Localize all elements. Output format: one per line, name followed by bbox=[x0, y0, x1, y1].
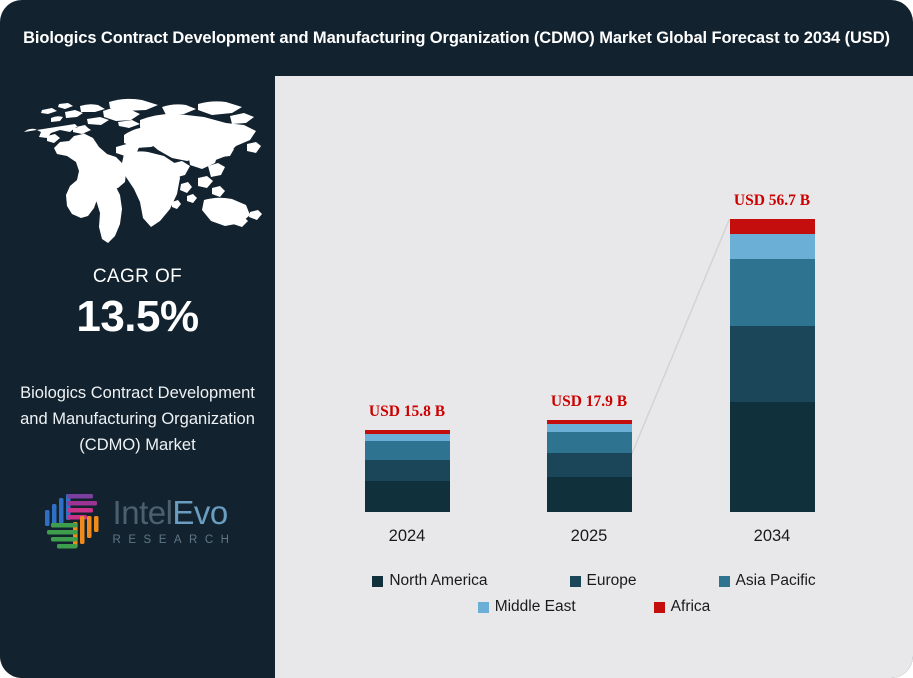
bar-total-label-2034: USD 56.7 B bbox=[734, 192, 810, 210]
sidebar: CAGR OF 13.5% Biologics Contract Develop… bbox=[0, 76, 275, 678]
logo-name-part2: Evo bbox=[172, 494, 227, 531]
bar-segment-africa-2034[interactable] bbox=[730, 219, 815, 234]
bar-segment-europe-2024[interactable] bbox=[365, 460, 450, 481]
bar-segment-north-america-2025[interactable] bbox=[547, 477, 632, 512]
bar-segment-middle-east-2034[interactable] bbox=[730, 234, 815, 259]
bar-group-2024[interactable]: USD 15.8 B bbox=[365, 430, 450, 512]
chart-legend: North AmericaEuropeAsia Pacific Middle E… bbox=[275, 572, 913, 616]
bar-segment-europe-2025[interactable] bbox=[547, 453, 632, 477]
legend-swatch-africa bbox=[654, 602, 665, 613]
legend-item-africa[interactable]: Africa bbox=[654, 598, 711, 616]
legend-item-asia-pacific[interactable]: Asia Pacific bbox=[719, 572, 816, 590]
logo-tagline: RESEARCH bbox=[113, 534, 237, 546]
chart-panel: USD 15.8 B2024USD 17.9 B2025USD 56.7 B20… bbox=[275, 76, 913, 678]
bar-total-label-2024: USD 15.8 B bbox=[369, 403, 445, 421]
x-axis-label-2034: 2034 bbox=[730, 527, 815, 546]
market-name: Biologics Contract Development and Manuf… bbox=[13, 380, 263, 458]
title-bar: Biologics Contract Development and Manuf… bbox=[0, 0, 913, 76]
legend-swatch-middle-east bbox=[478, 602, 489, 613]
legend-label-europe: Europe bbox=[587, 572, 637, 590]
bar-segment-middle-east-2024[interactable] bbox=[365, 434, 450, 441]
legend-item-europe[interactable]: Europe bbox=[570, 572, 637, 590]
x-axis-label-2024: 2024 bbox=[365, 527, 450, 546]
bar-group-2034[interactable]: USD 56.7 B bbox=[730, 219, 815, 512]
x-axis-label-2025: 2025 bbox=[547, 527, 632, 546]
legend-item-north-america[interactable]: North America bbox=[372, 572, 487, 590]
legend-row-primary: North AmericaEuropeAsia Pacific bbox=[275, 572, 913, 590]
bar-segment-asia-pacific-2025[interactable] bbox=[547, 432, 632, 453]
infographic-root: Biologics Contract Development and Manuf… bbox=[0, 0, 913, 678]
cagr-label: CAGR OF bbox=[93, 266, 182, 288]
legend-item-middle-east[interactable]: Middle East bbox=[478, 598, 576, 616]
logo-name: IntelEvo bbox=[113, 496, 237, 529]
legend-swatch-north-america bbox=[372, 576, 383, 587]
page-title: Biologics Contract Development and Manuf… bbox=[23, 27, 890, 49]
cagr-value: 13.5% bbox=[76, 292, 198, 342]
legend-label-middle-east: Middle East bbox=[495, 598, 576, 616]
legend-swatch-europe bbox=[570, 576, 581, 587]
bar-stack-2025 bbox=[547, 420, 632, 512]
legend-label-asia-pacific: Asia Pacific bbox=[736, 572, 816, 590]
bar-segment-asia-pacific-2024[interactable] bbox=[365, 441, 450, 460]
legend-row-secondary: Middle EastAfrica bbox=[275, 598, 913, 616]
legend-swatch-asia-pacific bbox=[719, 576, 730, 587]
bar-segment-europe-2034[interactable] bbox=[730, 326, 815, 402]
intelevo-pinwheel-icon bbox=[39, 488, 105, 554]
bar-stack-2024 bbox=[365, 430, 450, 512]
bar-segment-asia-pacific-2034[interactable] bbox=[730, 259, 815, 326]
bar-segment-north-america-2024[interactable] bbox=[365, 481, 450, 512]
logo-name-part1: Intel bbox=[113, 494, 173, 531]
logo: IntelEvo RESEARCH bbox=[8, 488, 268, 554]
bar-group-2025[interactable]: USD 17.9 B bbox=[547, 420, 632, 512]
legend-label-north-america: North America bbox=[389, 572, 487, 590]
bar-stack-2034 bbox=[730, 219, 815, 512]
logo-text: IntelEvo RESEARCH bbox=[113, 496, 237, 546]
bar-segment-north-america-2034[interactable] bbox=[730, 402, 815, 512]
bar-total-label-2025: USD 17.9 B bbox=[551, 393, 627, 411]
bar-segment-middle-east-2025[interactable] bbox=[547, 424, 632, 432]
world-map-icon bbox=[12, 92, 264, 244]
legend-label-africa: Africa bbox=[671, 598, 711, 616]
